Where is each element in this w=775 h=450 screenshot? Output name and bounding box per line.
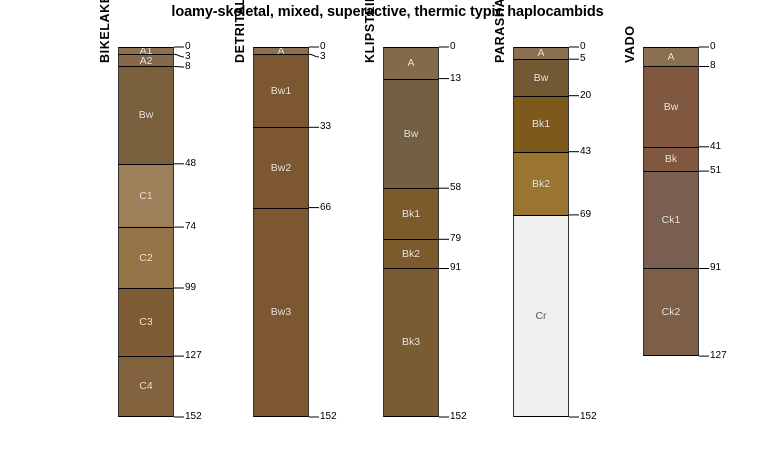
depth-tick-label: 0 [580,42,586,52]
profile-column: ABw1Bw2Bw3 [253,47,309,417]
depth-tick-label: 33 [320,122,331,132]
horizon-label: A1 [140,47,153,54]
depth-tick-label: 51 [710,166,721,176]
depth-tick-label: 66 [320,203,331,213]
depth-tick-label: 48 [185,159,196,169]
horizon-bk1[interactable]: Bk1 [383,188,439,239]
depth-tick-label: 152 [580,412,597,422]
depth-tick-label: 0 [710,42,716,52]
horizon-label: Bw [534,73,549,84]
horizon-c3[interactable]: C3 [118,288,174,356]
horizon-bw2[interactable]: Bw2 [253,127,309,207]
horizon-a[interactable]: A [513,47,569,59]
profile-name-detrital: DETRITAL [233,0,247,63]
depth-tick-label: 41 [710,142,721,152]
horizon-bw1[interactable]: Bw1 [253,54,309,127]
depth-tick-label: 13 [450,74,461,84]
horizon-bk3[interactable]: Bk3 [383,268,439,416]
horizon-label: Ck1 [662,215,681,226]
profile-column: A1A2BwC1C2C3C4 [118,47,174,417]
horizon-label: Bw [139,110,154,121]
depth-tick-label: 5 [580,54,586,64]
depth-tick-label: 79 [450,234,461,244]
horizon-ck2[interactable]: Ck2 [643,268,699,356]
profile-column: ABwBk1Bk2Cr [513,47,569,417]
horizon-label: Bw3 [271,307,291,318]
page-title: loamy-skeletal, mixed, superactive, ther… [0,4,775,20]
horizon-label: C3 [139,317,152,328]
horizon-label: C2 [139,253,152,264]
depth-tick-label: 8 [185,62,191,72]
horizon-bk1[interactable]: Bk1 [513,96,569,152]
horizon-cr[interactable]: Cr [513,215,569,417]
horizon-label: C4 [139,381,152,392]
horizon-label: Cr [535,311,546,322]
horizon-label: Bw2 [271,163,291,174]
depth-tick-label: 20 [580,91,591,101]
horizon-label: A [667,52,674,63]
horizon-a[interactable]: A [253,47,309,54]
profile-name-klipstein: KLIPSTEIN [363,0,377,63]
depth-tick-label: 43 [580,147,591,157]
horizon-c4[interactable]: C4 [118,356,174,417]
depth-tick-label: 127 [710,351,727,361]
horizon-label: Bk [665,154,677,165]
horizon-label: Bw1 [271,86,291,97]
depth-tick-label: 152 [185,412,202,422]
profile-column: ABwBk1Bk2Bk3 [383,47,439,417]
horizon-bk2[interactable]: Bk2 [383,239,439,268]
depth-tick-label: 127 [185,351,202,361]
horizon-bk2[interactable]: Bk2 [513,152,569,215]
depth-tick-label: 58 [450,183,461,193]
horizon-bw[interactable]: Bw [118,66,174,163]
horizon-label: Bk1 [532,119,550,130]
horizon-label: Ck2 [662,307,681,318]
horizon-label: A [277,47,284,54]
depth-tick-label: 152 [320,412,337,422]
horizon-a[interactable]: A [383,47,439,79]
horizon-c1[interactable]: C1 [118,164,174,227]
horizon-bw3[interactable]: Bw3 [253,208,309,417]
profile-column: ABwBkCk1Ck2 [643,47,699,356]
horizon-bk[interactable]: Bk [643,147,699,171]
depth-tick-label: 0 [185,42,191,52]
profile-name-vado: VADO [623,25,637,63]
depth-tick-label: 91 [450,263,461,273]
horizon-bw[interactable]: Bw [383,79,439,189]
depth-tick-label: 8 [710,61,716,71]
horizon-a1[interactable]: A1 [118,47,174,54]
depth-tick-label: 91 [710,263,721,273]
depth-tick-label: 0 [450,42,456,52]
horizon-ck1[interactable]: Ck1 [643,171,699,268]
horizon-label: Bk2 [532,179,550,190]
depth-tick-label: 152 [450,412,467,422]
profile-name-parashant: PARASHANT [493,0,507,63]
horizon-label: C1 [139,191,152,202]
horizon-label: Bw [404,129,419,140]
depth-tick-label: 0 [320,42,326,52]
horizon-label: Bk3 [402,337,420,348]
horizon-a2[interactable]: A2 [118,54,174,66]
depth-tick-label: 99 [185,283,196,293]
horizon-label: A2 [140,56,153,67]
horizon-label: Bw [664,102,679,113]
horizon-bw[interactable]: Bw [513,59,569,96]
horizon-label: Bk2 [402,249,420,260]
horizon-c2[interactable]: C2 [118,227,174,288]
depth-tick-label: 3 [185,52,191,62]
horizon-bw[interactable]: Bw [643,66,699,146]
horizon-label: A [537,48,544,59]
horizon-label: Bk1 [402,209,420,220]
horizon-label: A [407,58,414,69]
profile-name-bikelake: BIKELAKE [98,0,112,63]
depth-tick-label: 74 [185,222,196,232]
depth-tick-label: 3 [320,52,326,62]
depth-tick-label: 69 [580,210,591,220]
horizon-a[interactable]: A [643,47,699,66]
